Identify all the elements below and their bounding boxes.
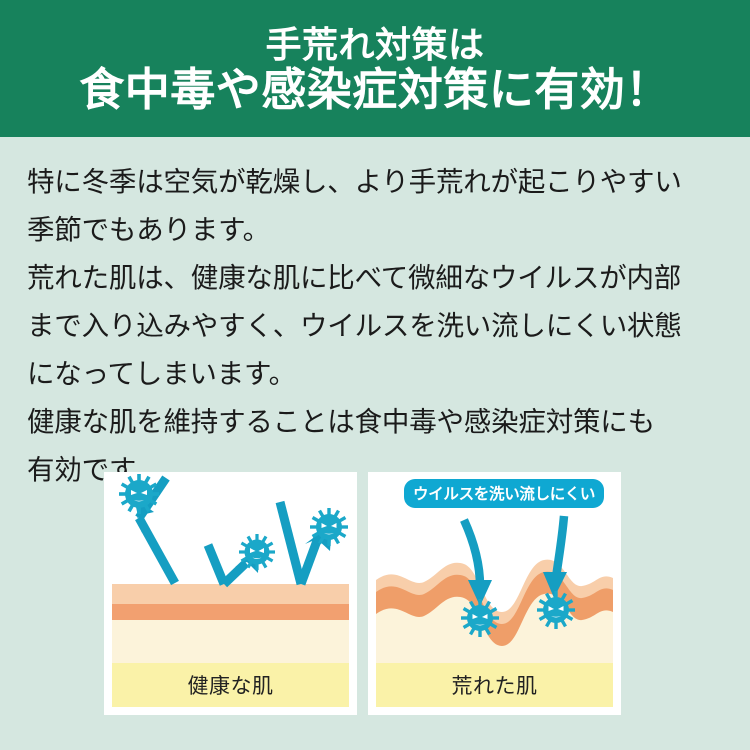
illustration-panels: 健康な肌 ウイルスを洗い流しにくい bbox=[104, 472, 621, 715]
skin-mid-layer-shape bbox=[112, 603, 349, 620]
body-line-2: 季節でもあります。 bbox=[27, 206, 727, 254]
healthy-skin-caption: 健康な肌 bbox=[112, 663, 349, 707]
healthy-skin-panel: 健康な肌 bbox=[104, 472, 357, 715]
header-banner: 手荒れ対策は 食中毒や感染症対策に有効！ bbox=[0, 0, 750, 137]
rough-skin-panel: ウイルスを洗い流しにくい bbox=[368, 472, 621, 715]
body-line-1: 特に冬季は空気が乾燥し、より手荒れが起こりやすい bbox=[27, 158, 727, 206]
body-line-4: まで入り込みやすく、ウイルスを洗い流しにくい状態 bbox=[27, 302, 727, 350]
rough-skin-caption: 荒れた肌 bbox=[376, 663, 613, 707]
banner-title-line2: 食中毒や感染症対策に有効！ bbox=[79, 65, 671, 115]
body-paragraph: 特に冬季は空気が乾燥し、より手荒れが起こりやすい 季節でもあります。 荒れた肌は… bbox=[27, 158, 727, 494]
body-line-5: になってしまいます。 bbox=[27, 350, 727, 398]
body-line-6: 健康な肌を維持することは食中毒や感染症対策にも bbox=[27, 398, 727, 446]
virus-hard-to-wash-label: ウイルスを洗い流しにくい bbox=[404, 479, 604, 508]
virus-icon-1 bbox=[119, 474, 159, 514]
skin-top-layer-shape bbox=[112, 584, 349, 604]
bounce-arrow-3 bbox=[280, 502, 318, 584]
skin-deep-layer-shape bbox=[112, 619, 349, 669]
body-line-3: 荒れた肌は、健康な肌に比べて微細なウイルスが内部 bbox=[27, 254, 727, 302]
banner-title-line1: 手荒れ対策は bbox=[265, 26, 484, 65]
